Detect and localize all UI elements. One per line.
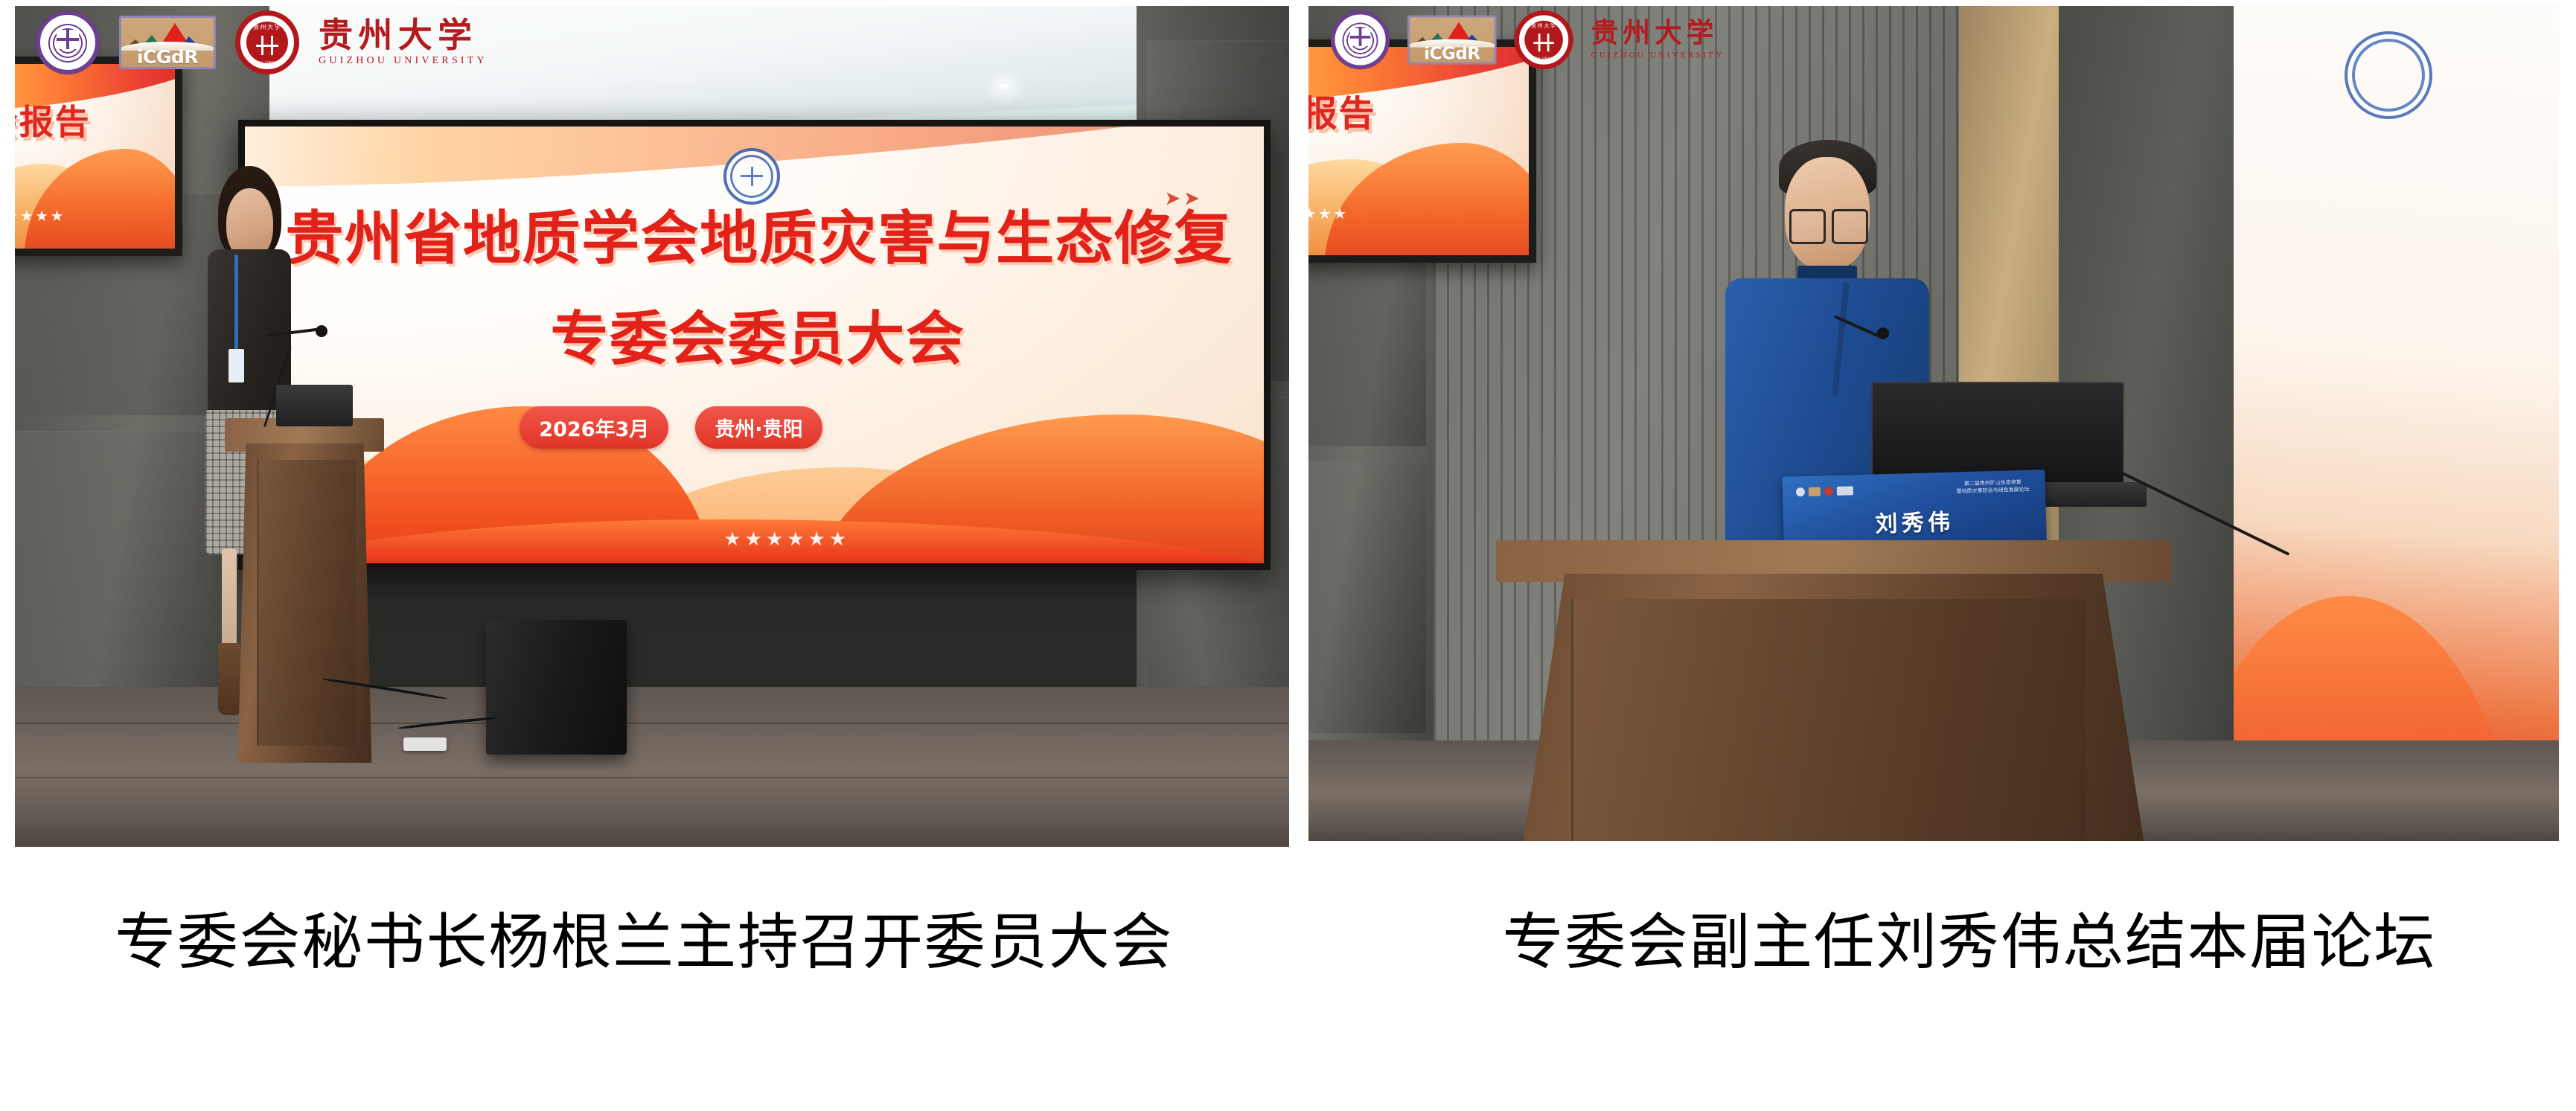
podium-front-face xyxy=(1571,599,2086,841)
led-title-line-1: 贵州省地质学会地质灾害与生态修复 xyxy=(285,192,1233,275)
glasses-icon xyxy=(1832,209,1868,244)
placard-name-text: 刘秀伟 xyxy=(1783,501,2047,541)
downlight-icon xyxy=(996,82,1012,91)
placard-subtitle: 第二届贵州矿山生态修复 暨地质灾害防治与绿色发展论坛 xyxy=(1957,479,2030,496)
placard-logo-seal-icon xyxy=(1824,487,1833,496)
icgdr-wordmark: iCGdR xyxy=(1410,45,1495,62)
wordmark-cn: 贵州大学 xyxy=(319,18,488,53)
photo-right[interactable]: 会报告 ★★★★★ xyxy=(1308,6,2559,841)
side-poster-title: 会报告 xyxy=(15,95,90,144)
wordmark-en: GUIZHOU UNIVERSITY xyxy=(1591,50,1725,60)
guizhou-university-seal-icon: 贵州大学 GUIZHOU UNIVERSITY xyxy=(235,10,299,74)
side-led-poster: 会报告 ★★★★★ xyxy=(15,57,182,257)
logo-bar-left: iCGdR 贵州大学 GUIZHOU UNIVERSITY 贵州大学 GUIZH… xyxy=(36,10,488,74)
wordmark-en: GUIZHOU UNIVERSITY xyxy=(319,55,488,67)
guizhou-university-wordmark: 贵州大学 GUIZHOU UNIVERSITY xyxy=(319,18,488,68)
photo-right-scene: 会报告 ★★★★★ xyxy=(1308,6,2559,841)
seal-en-text: GUIZHOU UNIVERSITY xyxy=(240,61,294,65)
badge xyxy=(228,349,245,382)
caption-row: 专委会秘书长杨根兰主持召开委员大会 专委会副主任刘秀伟总结本届论坛 xyxy=(0,862,2576,1011)
power-strip xyxy=(403,737,447,751)
side-poster-stars: ★★★★★ xyxy=(1308,205,1349,222)
unesco-emblem-icon xyxy=(36,10,100,74)
guizhou-university-wordmark: 贵州大学 GUIZHOU UNIVERSITY xyxy=(1591,19,1725,60)
photo-left[interactable]: 会报告 ★★★★★ ➤➤ 贵州省地质学会地质灾害与生态修复 专委 xyxy=(15,6,1289,847)
side-poster-stars: ★★★★★ xyxy=(15,207,65,225)
caption-left: 专委会秘书长杨根兰主持召开委员大会 xyxy=(0,862,1318,1011)
placard-logo-icgdr-icon xyxy=(1809,487,1821,496)
photo-row: 会报告 ★★★★★ ➤➤ 贵州省地质学会地质灾害与生态修复 专委 xyxy=(0,0,2576,856)
glasses-icon xyxy=(1789,209,1826,244)
placard-logo-gzu-icon xyxy=(1837,486,1853,496)
podium-front-face xyxy=(257,460,356,746)
seal-cn-text: 贵州大学 xyxy=(1519,22,1568,30)
side-led-poster: 会报告 ★★★★★ xyxy=(1308,39,1536,263)
led-info-pills: 2026年3月 贵州·贵阳 xyxy=(520,406,822,449)
right-decor-emblem-icon xyxy=(2345,31,2432,119)
seal-en-text: GUIZHOU UNIVERSITY xyxy=(1519,57,1568,62)
floor-seam xyxy=(15,777,1289,778)
logo-bar-right: iCGdR 贵州大学 GUIZHOU UNIVERSITY 贵州大学 GUIZH… xyxy=(1331,10,1724,69)
unesco-emblem-icon xyxy=(1331,10,1390,69)
floor-seam xyxy=(15,723,1289,724)
placard-logo-unesco-icon xyxy=(1796,487,1805,496)
led-pill-date: 2026年3月 xyxy=(520,406,668,449)
figure-container: 会报告 ★★★★★ ➤➤ 贵州省地质学会地质灾害与生态修复 专委 xyxy=(0,0,2576,1111)
boot xyxy=(218,643,240,715)
icgdr-logo: iCGdR xyxy=(1407,15,1497,64)
caption-right: 专委会副主任刘秀伟总结本届论坛 xyxy=(1318,862,2576,1011)
led-pill-location: 贵州·贵阳 xyxy=(695,406,822,449)
placard-logo-row xyxy=(1796,486,1853,496)
right-decor-panel xyxy=(2234,6,2559,841)
side-poster-title: 会报告 xyxy=(1308,84,1376,136)
led-stars: ★★★★★★ xyxy=(723,528,850,551)
wordmark-cn: 贵州大学 xyxy=(1591,19,1725,48)
wall-panel xyxy=(1308,461,1426,733)
icgdr-wordmark: iCGdR xyxy=(121,48,214,66)
seal-cn-text: 贵州大学 xyxy=(240,23,294,31)
icgdr-logo: iCGdR xyxy=(119,16,216,69)
photo-left-scene: 会报告 ★★★★★ ➤➤ 贵州省地质学会地质灾害与生态修复 专委 xyxy=(15,6,1289,847)
podium-monitor xyxy=(276,385,353,427)
lanyard xyxy=(234,254,238,349)
guizhou-university-seal-icon: 贵州大学 GUIZHOU UNIVERSITY xyxy=(1515,10,1573,69)
main-led-wall: ➤➤ 贵州省地质学会地质灾害与生态修复 专委会委员大会 2026年3月 贵州·贵… xyxy=(238,120,1271,571)
led-title-line-2: 专委会委员大会 xyxy=(550,292,965,376)
leg xyxy=(222,548,236,654)
floor-loudspeaker xyxy=(486,620,626,755)
